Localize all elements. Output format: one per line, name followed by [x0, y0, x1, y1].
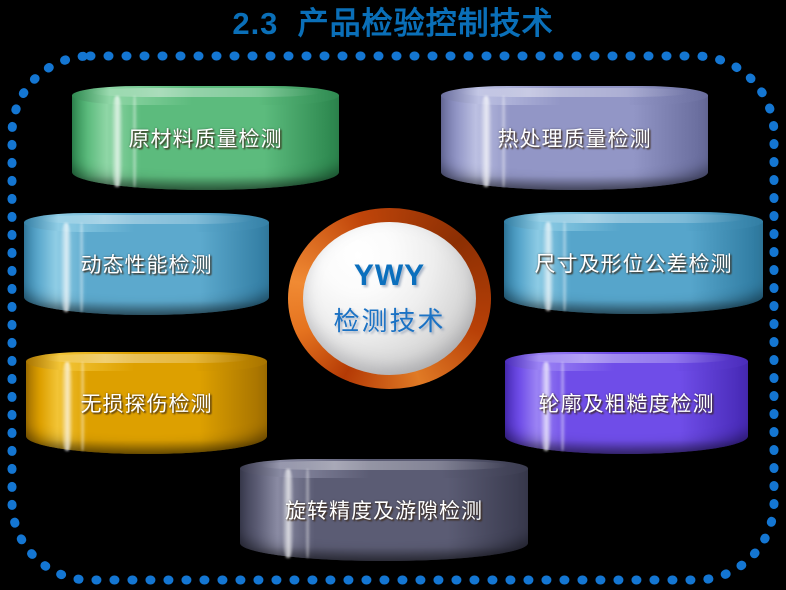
- node-nondestructive[interactable]: 无损探伤检测: [26, 352, 267, 454]
- node-raw-material[interactable]: 原材料质量检测: [72, 86, 339, 190]
- node-heat-treatment[interactable]: 热处理质量检测: [441, 86, 708, 190]
- emblem-subtitle: 检测技术: [333, 301, 445, 338]
- node-label: 轮廓及粗糙度检测: [505, 388, 748, 418]
- node-profile-roughness[interactable]: 轮廓及粗糙度检测: [505, 352, 748, 454]
- node-dynamic-performance[interactable]: 动态性能检测: [24, 213, 269, 315]
- node-label: 热处理质量检测: [441, 123, 708, 153]
- node-label: 无损探伤检测: [26, 388, 267, 418]
- node-cap-highlight: [522, 354, 731, 363]
- emblem-title-ywy: YWY: [354, 259, 425, 293]
- node-label: 动态性能检测: [24, 249, 269, 279]
- node-rotation-clearance[interactable]: 旋转精度及游隙检测: [240, 459, 528, 561]
- node-cap-highlight: [91, 88, 321, 97]
- node-label: 尺寸及形位公差检测: [504, 248, 763, 278]
- node-label: 原材料质量检测: [72, 123, 339, 153]
- emblem-text-group: YWY 检测技术: [288, 208, 491, 389]
- node-cap-highlight: [522, 214, 745, 223]
- node-cap-highlight: [460, 88, 690, 97]
- node-label: 旋转精度及游隙检测: [240, 495, 528, 525]
- node-cap-highlight: [260, 461, 508, 470]
- center-emblem[interactable]: YWY 检测技术: [288, 208, 491, 389]
- node-cap-highlight: [41, 215, 252, 224]
- node-dimension-tolerance[interactable]: 尺寸及形位公差检测: [504, 212, 763, 314]
- node-cap-highlight: [43, 354, 250, 363]
